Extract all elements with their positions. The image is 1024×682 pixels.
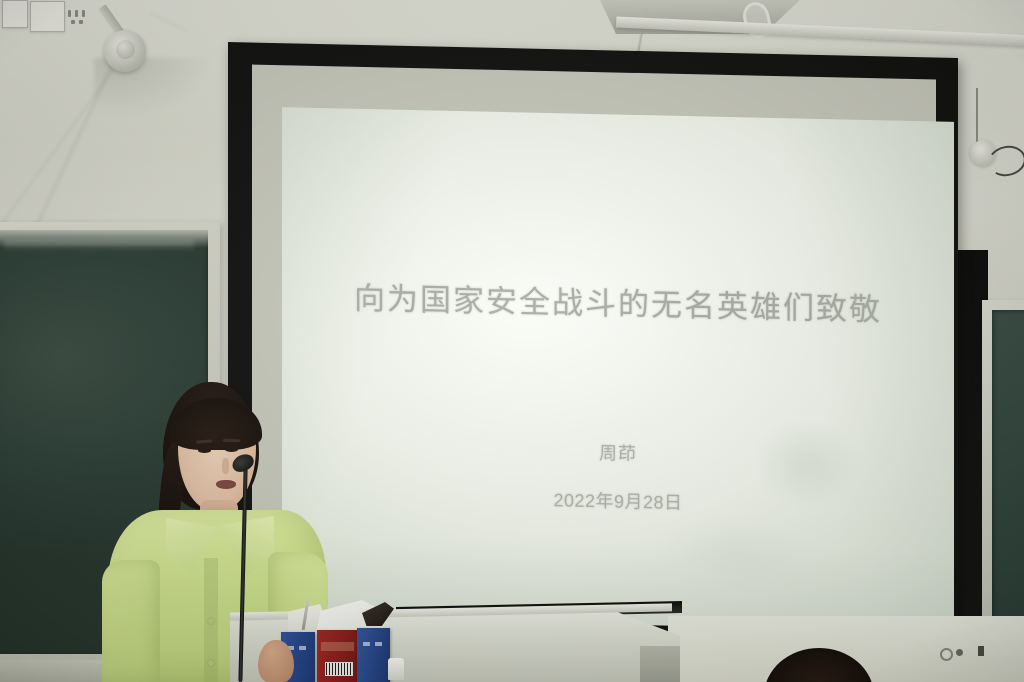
wall-fitting (956, 649, 963, 656)
chalkboard-surface (992, 310, 1024, 662)
box-marking (375, 642, 382, 646)
blue-box-right (357, 628, 390, 682)
power-outlet[interactable] (30, 1, 65, 32)
box-marking (363, 642, 370, 646)
eyebrow (223, 439, 240, 443)
chalk-dust (4, 240, 194, 252)
screen-mat: 向为国家安全战斗的无名英雄们致敬 周茚 2022年9月28日 (252, 65, 936, 628)
wall-fitting (978, 646, 984, 656)
podium-side (640, 646, 680, 682)
slide-title: 向为国家安全战斗的无名英雄们致敬 (354, 273, 882, 330)
shirt-button (208, 618, 214, 624)
lecture-hall-photo: 向为国家安全战斗的无名英雄们致敬 周茚 2022年9月28日 (0, 0, 1024, 682)
barcode-icon (325, 662, 353, 676)
sleeve-left (102, 560, 160, 682)
screen-smudge (752, 417, 862, 509)
mount-cable (976, 88, 978, 144)
eye (198, 448, 211, 453)
outlet-holes-icon (67, 8, 89, 26)
projection-screen-surface: 向为国家安全战斗的无名英雄们致敬 周茚 2022年9月28日 (282, 107, 954, 632)
presenter-hand (258, 640, 294, 682)
eye (225, 447, 238, 452)
projection-screen-frame: 向为国家安全战斗的无名英雄们致敬 周茚 2022年9月28日 (228, 42, 958, 650)
nose (222, 458, 229, 474)
slide: 向为国家安全战斗的无名英雄们致敬 周茚 2022年9月28日 (282, 107, 954, 632)
mount-knob[interactable] (116, 40, 135, 59)
mouth (216, 480, 236, 489)
white-object (388, 658, 404, 680)
slide-author: 周茚 (599, 439, 637, 466)
red-box (317, 630, 359, 682)
wall-fitting (940, 648, 953, 661)
screen-smudge (662, 516, 812, 589)
power-outlet[interactable] (2, 0, 28, 28)
slide-date: 2022年9月28日 (553, 486, 682, 515)
shirt-button (208, 660, 214, 666)
box-label (321, 642, 354, 651)
box-marking (299, 646, 306, 650)
